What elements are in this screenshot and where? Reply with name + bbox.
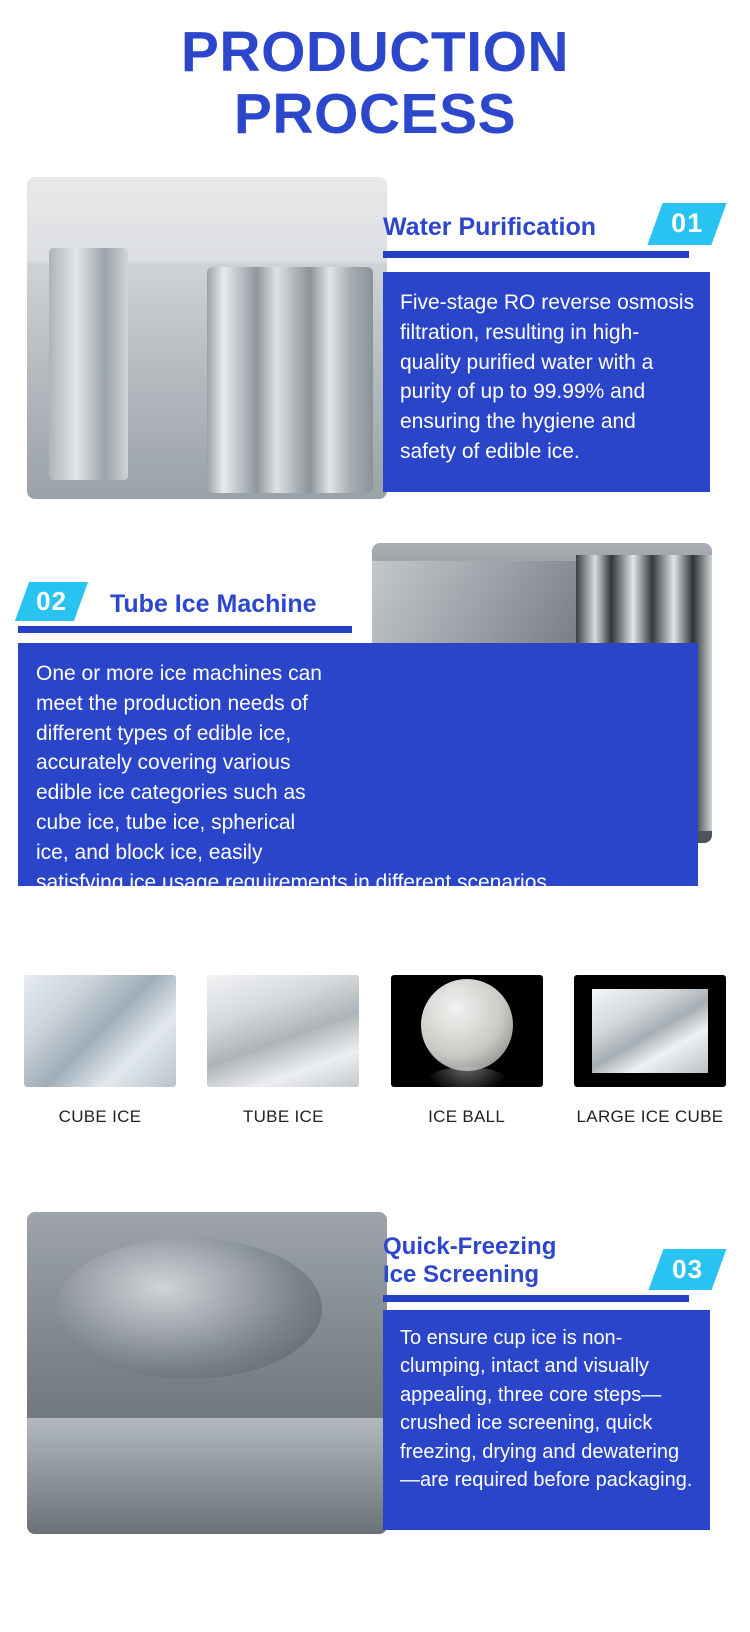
step-number-badge-03-text: 03 <box>672 1256 703 1282</box>
page-title-line-1: PRODUCTION <box>0 22 750 84</box>
section-tube-ice-machine: 02 Tube Ice Machine One or more ice mach… <box>0 535 750 950</box>
section-water-purification: Water Purification 01 Five-stage RO reve… <box>0 165 750 510</box>
step-number-badge-01-text: 01 <box>671 210 703 237</box>
step-number-badge-03: 03 <box>649 1249 727 1290</box>
ice-type-item-cube[interactable]: CUBE ICE <box>24 975 176 1127</box>
section-2-header: 02 Tube Ice Machine <box>18 575 368 621</box>
section-2-body-wrapped: One or more ice machines can meet the pr… <box>36 662 322 834</box>
section-1-body: Five-stage RO reverse osmosis filtration… <box>383 272 710 492</box>
cube-ice-caption: CUBE ICE <box>24 1087 176 1127</box>
large-ice-cube-photo <box>574 975 726 1087</box>
ice-ball-photo <box>391 975 543 1087</box>
section-3-body: To ensure cup ice is non-clumping, intac… <box>383 1310 710 1530</box>
section-3-divider <box>383 1295 689 1302</box>
step-number-badge-02-text: 02 <box>36 588 67 614</box>
tube-ice-caption: TUBE ICE <box>207 1087 359 1127</box>
step-number-badge-02: 02 <box>15 582 88 621</box>
tube-ice-photo <box>207 975 359 1087</box>
section-2-heading: Tube Ice Machine <box>110 590 317 618</box>
ice-type-gallery: CUBE ICE TUBE ICE ICE BALL LARGE ICE CUB… <box>0 975 750 1175</box>
ice-ball-caption: ICE BALL <box>391 1087 543 1127</box>
section-2-text-wrap-spacer <box>330 659 680 864</box>
page-title-line-2: PROCESS <box>0 84 750 146</box>
section-2-body: One or more ice machines can meet the pr… <box>18 643 698 886</box>
section-quick-freezing-ice-screening: Quick-Freezing Ice Screening 03 To ensur… <box>0 1200 750 1600</box>
quick-freezing-photo <box>27 1212 387 1534</box>
ice-type-item-large-cube[interactable]: LARGE ICE CUBE <box>574 975 726 1127</box>
section-2-divider <box>18 626 352 633</box>
cube-ice-photo <box>24 975 176 1087</box>
section-1-divider <box>383 251 689 258</box>
ice-type-item-tube[interactable]: TUBE ICE <box>207 975 359 1127</box>
ice-type-item-ball[interactable]: ICE BALL <box>391 975 543 1127</box>
page-title: PRODUCTION PROCESS <box>0 0 750 145</box>
water-purification-photo <box>27 177 387 499</box>
section-3-header: Quick-Freezing Ice Screening 03 <box>383 1214 723 1290</box>
section-1-header: Water Purification 01 <box>383 193 723 245</box>
section-1-heading: Water Purification <box>383 213 596 241</box>
section-3-heading: Quick-Freezing Ice Screening <box>383 1233 556 1288</box>
step-number-badge-01: 01 <box>647 203 726 245</box>
large-ice-cube-caption: LARGE ICE CUBE <box>574 1087 726 1127</box>
